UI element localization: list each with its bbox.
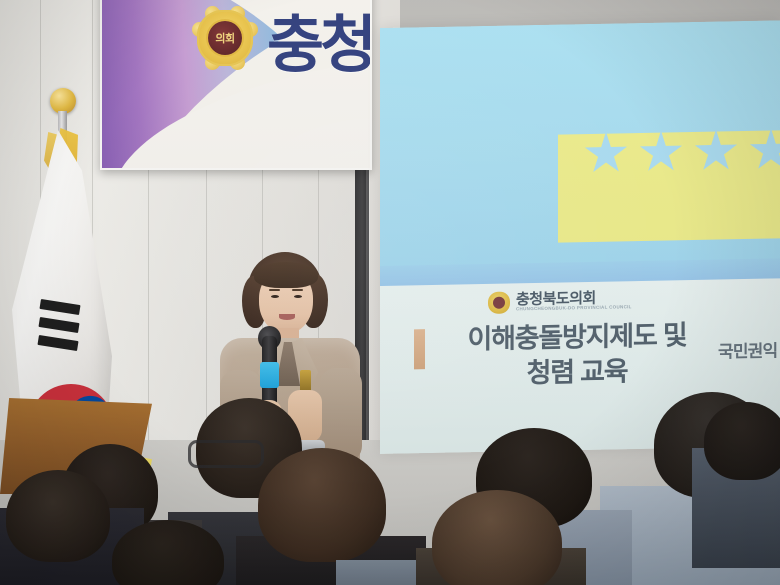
presenter-fringe: [254, 262, 318, 288]
flag-trigram-bar: [38, 317, 79, 333]
presentation-photo-scene: 의회 충청: [0, 0, 780, 585]
presenter-mouth: [279, 314, 295, 320]
slide-right-label: 국민권익: [718, 336, 777, 362]
microphone-label: [300, 370, 311, 392]
presenter-eyebrow: [292, 289, 303, 291]
slide-title-line-2: 청렴 교육: [432, 352, 722, 392]
slide-title-line-1: 이해충돌방지제도 및: [432, 317, 722, 357]
audience-head: [258, 448, 386, 562]
slide-council-logo: 충청북도의회 CHUNGCHEONGBUK-DO PROVINCIAL COUN…: [488, 285, 638, 322]
microphone-blue-band: [260, 362, 279, 388]
wall-banner: 의회 충청: [100, 0, 372, 170]
audience-head: [432, 490, 562, 585]
slide-title: 이해충돌방지제도 및 청렴 교육: [432, 317, 722, 392]
slide-logo-english-text: CHUNGCHEONGBUK-DO PROVINCIAL COUNCIL: [516, 304, 632, 311]
council-emblem-icon: 의회: [197, 10, 253, 66]
banner-title-text: 충청: [267, 0, 372, 84]
slide-accent-bar: [414, 329, 425, 369]
emblem-label: 의회: [208, 30, 242, 46]
projection-screen: 충청북도의회 CHUNGCHEONGBUK-DO PROVINCIAL COUN…: [380, 20, 780, 454]
audience-head: [704, 402, 780, 480]
eyeglasses-icon: [188, 440, 264, 468]
presenter-eyebrow: [269, 289, 280, 291]
flag-trigram-bar: [39, 299, 80, 315]
council-emblem-icon: [488, 292, 510, 314]
presenter-eye: [271, 295, 279, 298]
flag-cloth: [12, 130, 112, 420]
presenter-eye: [294, 295, 302, 298]
korean-flag: [6, 88, 118, 418]
audience-head: [6, 470, 110, 562]
flag-trigram-bar: [37, 335, 78, 351]
